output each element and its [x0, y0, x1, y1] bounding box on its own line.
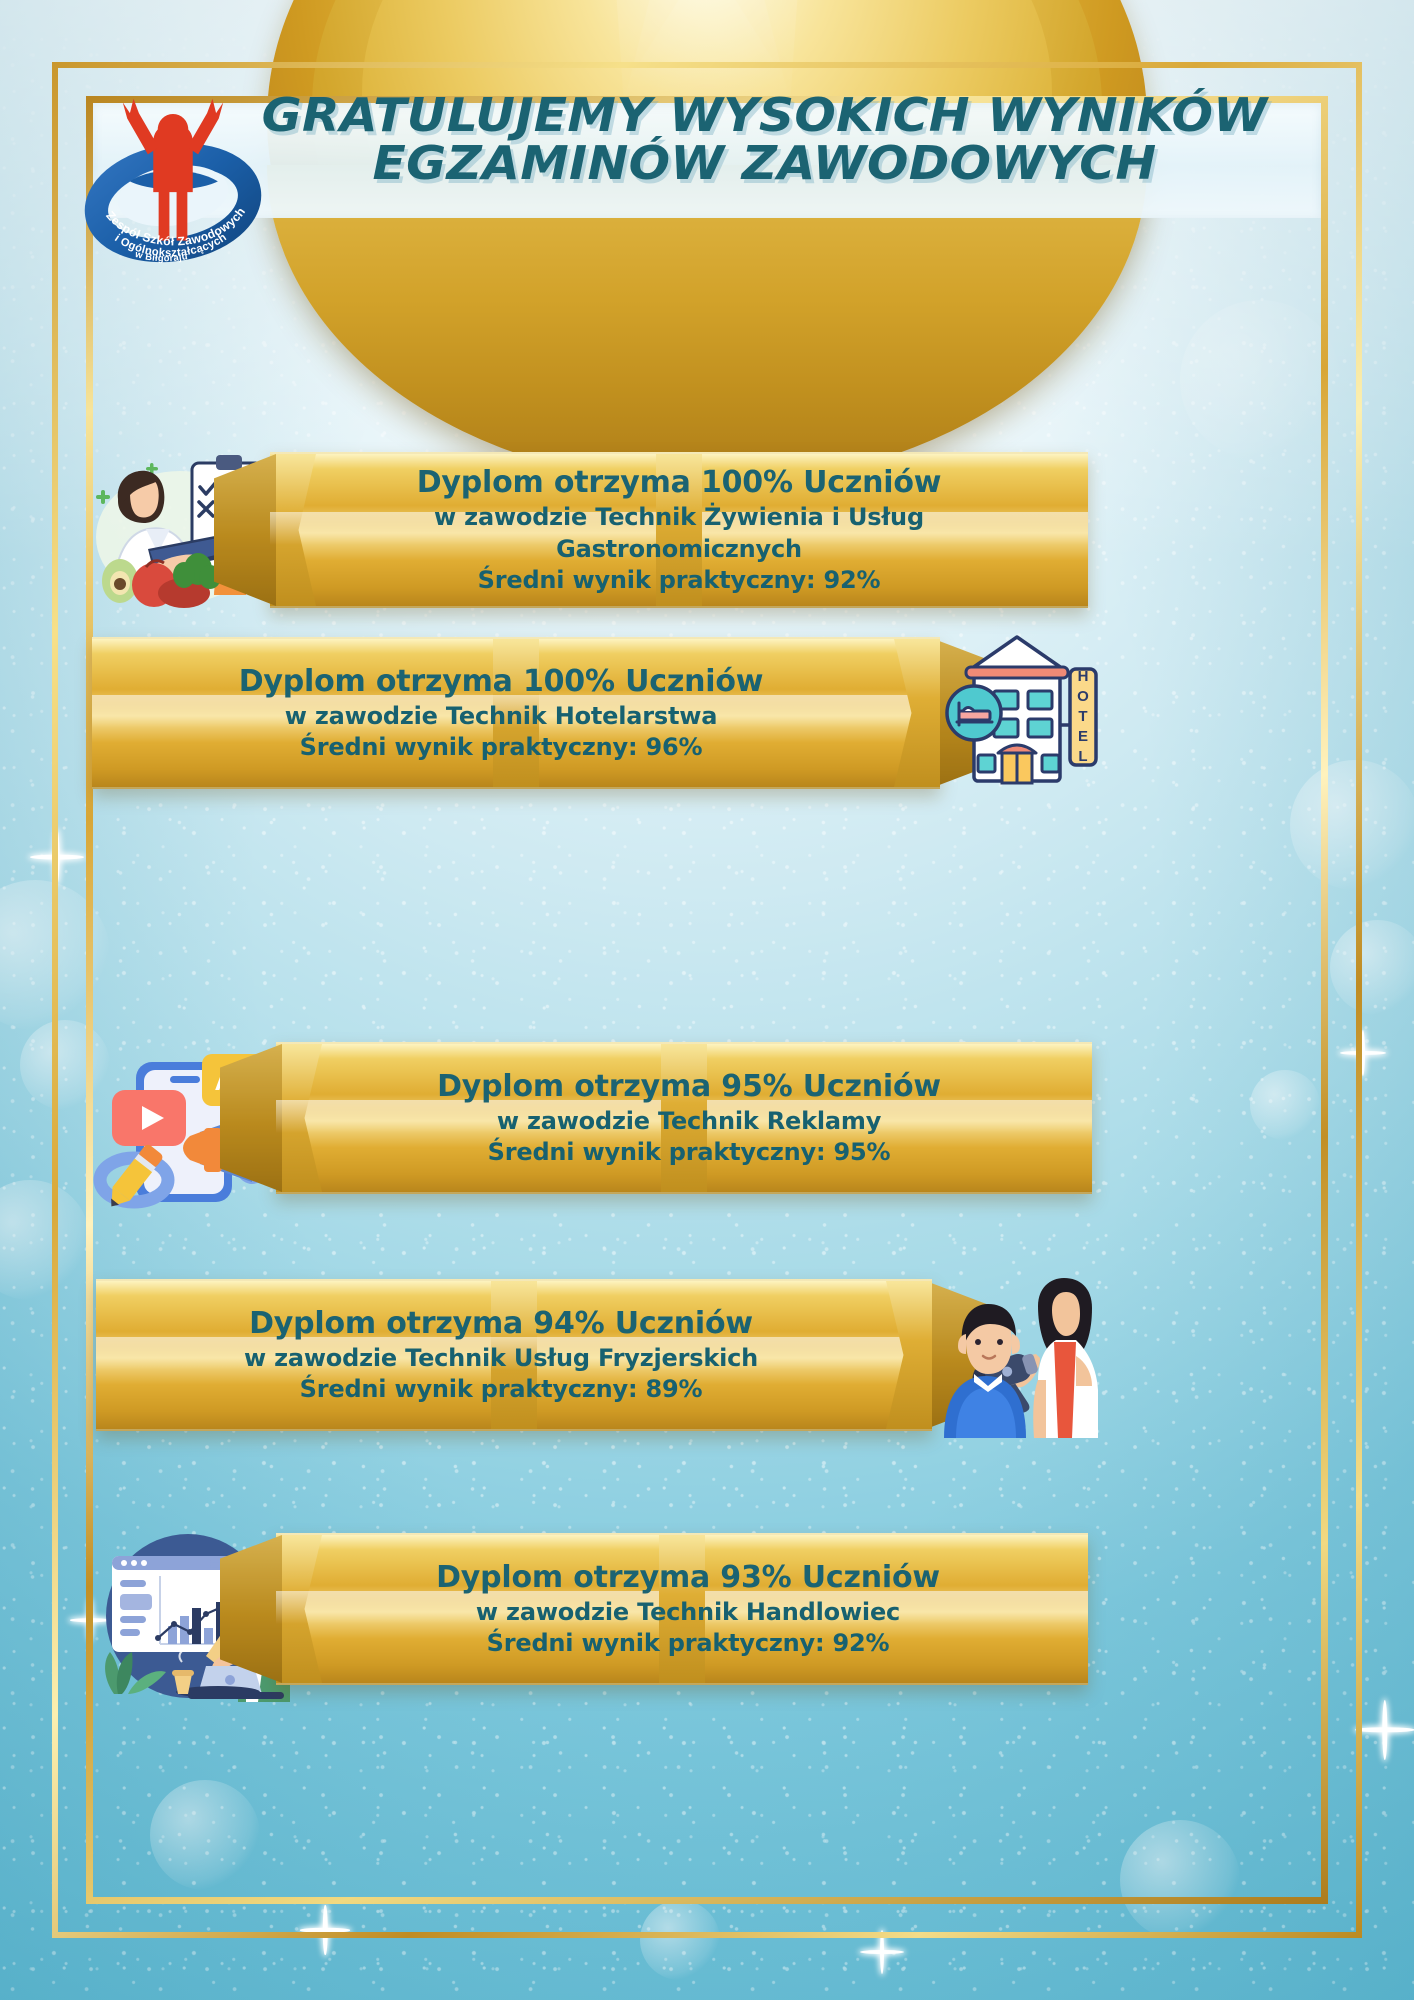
hotel-sign-letter-h: H: [1078, 668, 1089, 685]
result-ribbon: Dyplom otrzyma 95% Uczniów w zawodzie Te…: [276, 1042, 1092, 1194]
result-diploma-line: Dyplom otrzyma 93% Uczniów: [342, 1559, 1034, 1597]
hairdresser-icon: [926, 1270, 1106, 1440]
result-profession-line: w zawodzie Technik Handlowiec: [342, 1597, 1034, 1628]
result-text: Dyplom otrzyma 100% Uczniów w zawodzie T…: [270, 450, 1088, 610]
svg-text:T: T: [1078, 708, 1087, 725]
hotel-building-icon: H O T E L: [932, 629, 1102, 797]
svg-text:E: E: [1078, 728, 1088, 745]
result-ribbon: Dyplom otrzyma 93% Uczniów w zawodzie Te…: [276, 1533, 1088, 1685]
page-title: GRATULUJEMY WYSOKICH WYNIKÓW EGZAMINÓW Z…: [268, 92, 1261, 188]
headline-line-2: EGZAMINÓW ZAWODOWYCH: [238, 140, 1291, 188]
result-average-line: Średni wynik praktyczny: 95%: [342, 1137, 1036, 1168]
result-average-line: Średni wynik praktyczny: 96%: [132, 732, 870, 763]
school-logo: Zespół Szkół Zawodowych i Ogólnokształcą…: [83, 88, 263, 263]
result-ribbon: Dyplom otrzyma 100% Uczniów w zawodzie T…: [92, 637, 940, 789]
result-diploma-line: Dyplom otrzyma 94% Uczniów: [136, 1305, 866, 1343]
result-row: ADS: [92, 1028, 1092, 1208]
result-ribbon: Dyplom otrzyma 100% Uczniów w zawodzie T…: [270, 452, 1088, 608]
result-profession-line-cont: Gastronomicznych: [332, 534, 1026, 565]
result-row: Dyplom otrzyma 94% Uczniów w zawodzie Te…: [96, 1270, 1106, 1440]
poster-canvas: Zespół Szkół Zawodowych i Ogólnokształcą…: [0, 0, 1414, 2000]
result-average-line: Średni wynik praktyczny: 92%: [342, 1628, 1034, 1659]
result-diploma-line: Dyplom otrzyma 100% Uczniów: [332, 464, 1026, 502]
result-average-line: Średni wynik praktyczny: 92%: [332, 565, 1026, 596]
result-row: Dyplom otrzyma 100% Uczniów w zawodzie T…: [92, 628, 1102, 798]
result-text: Dyplom otrzyma 95% Uczniów w zawodzie Te…: [276, 1052, 1092, 1185]
result-profession-line: w zawodzie Technik Usług Fryzjerskich: [136, 1343, 866, 1374]
result-profession-line: w zawodzie Technik Hotelarstwa: [132, 701, 870, 732]
result-profession-line: w zawodzie Technik Reklamy: [342, 1106, 1036, 1137]
result-diploma-line: Dyplom otrzyma 100% Uczniów: [132, 663, 870, 701]
svg-text:L: L: [1078, 748, 1087, 765]
result-text: Dyplom otrzyma 93% Uczniów w zawodzie Te…: [276, 1543, 1088, 1676]
result-row: $: [88, 1516, 1088, 1702]
result-profession-line: w zawodzie Technik Żywienia i Usług: [332, 502, 1026, 533]
result-text: Dyplom otrzyma 100% Uczniów w zawodzie T…: [92, 647, 940, 780]
result-average-line: Średni wynik praktyczny: 89%: [136, 1374, 866, 1405]
result-row: Dyplom otrzyma 100% Uczniów w zawodzie T…: [88, 440, 1088, 620]
header: Zespół Szkół Zawodowych i Ogólnokształcą…: [93, 80, 1321, 240]
result-diploma-line: Dyplom otrzyma 95% Uczniów: [342, 1068, 1036, 1106]
svg-text:O: O: [1077, 688, 1089, 705]
result-text: Dyplom otrzyma 94% Uczniów w zawodzie Te…: [96, 1289, 932, 1422]
result-ribbon: Dyplom otrzyma 94% Uczniów w zawodzie Te…: [96, 1279, 932, 1431]
headline-line-1: GRATULUJEMY WYSOKICH WYNIKÓW: [238, 92, 1291, 140]
